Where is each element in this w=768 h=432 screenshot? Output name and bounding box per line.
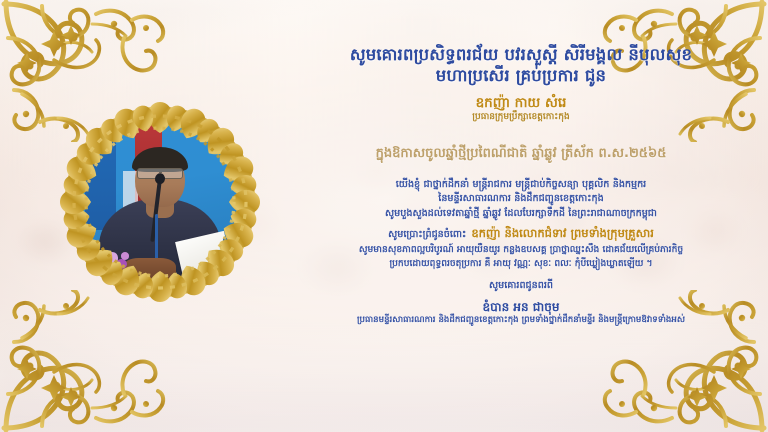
greeting-card: សូមគោរពប្រសិទ្ធពរជ័យ បវរសួស្ដី សិរីមង្គល… bbox=[0, 0, 768, 432]
signer-role: ប្រធានមន្ទីរសាធារណការ និងដឹកជញ្ជូនខេត្តក… bbox=[286, 315, 756, 326]
body-paragraph-1-line-2: នៃមន្ទីរសាធារណការ និងដឹកជញ្ជូនខេត្តកោះកុ… bbox=[286, 192, 756, 207]
signer-name: ឧំបាន អន ជាចុម bbox=[286, 300, 756, 315]
body-paragraph-3-line-2: ប្រកបដោយពុទ្ធពរចតុប្រការ គឺ អាយុ វណ្ណៈ ស… bbox=[286, 257, 756, 271]
honoree-role: ប្រធានក្រុមប្រឹក្សាខេត្តកោះកុង bbox=[286, 112, 756, 124]
text-column: សូមគោរពប្រសិទ្ធពរជ័យ បវរសួស្ដី សិរីមង្គល… bbox=[286, 0, 756, 432]
closing-line: សូមគោរពជូនពរពី bbox=[286, 279, 756, 294]
honoree-name: ឧកញ៉ា កាយ សំរេ bbox=[286, 95, 756, 112]
body-paragraph-1-line-1: យើងខ្ញុំ ជាថ្នាក់ដឹកនាំ មន្ត្រីរាជការ មន… bbox=[286, 178, 756, 193]
portrait-block bbox=[56, 98, 264, 306]
recipient-accent: ឧកញ៉ា និងលោកជំទាវ ព្រមទាំងក្រុមគ្រួសារ bbox=[471, 226, 654, 240]
occasion-line: ក្នុងឱកាសចូលឆ្នាំថ្មីប្រពៃណីជាតិ ឆ្នាំឆ្… bbox=[286, 146, 756, 163]
portrait-gold-lace-frame-icon bbox=[56, 98, 264, 306]
body-paragraph-2-line-1: សូមបួងសួងដល់ទេវតាឆ្នាំថ្មី ឆ្នាំឆ្លូវ ដែ… bbox=[286, 207, 756, 222]
recipient-prefix: សូមប្រោះព្រំជូនចំពោះ bbox=[388, 229, 466, 240]
body-paragraph-2-line-2: សូមប្រោះព្រំជូនចំពោះ ឧកញ៉ា និងលោកជំទាវ ព… bbox=[286, 222, 756, 243]
body-paragraph-3-line-1: សូមមានសុខភាពល្អបរិបូរណ៍ អាយុយឺនយូរ កន្លង… bbox=[286, 243, 756, 257]
header-line-1: សូមគោរពប្រសិទ្ធពរជ័យ បវរសួស្ដី សិរីមង្គល… bbox=[286, 44, 756, 65]
header-line-2: មហាប្រសើរ គ្រប់ប្រការ ជូន bbox=[286, 65, 756, 86]
